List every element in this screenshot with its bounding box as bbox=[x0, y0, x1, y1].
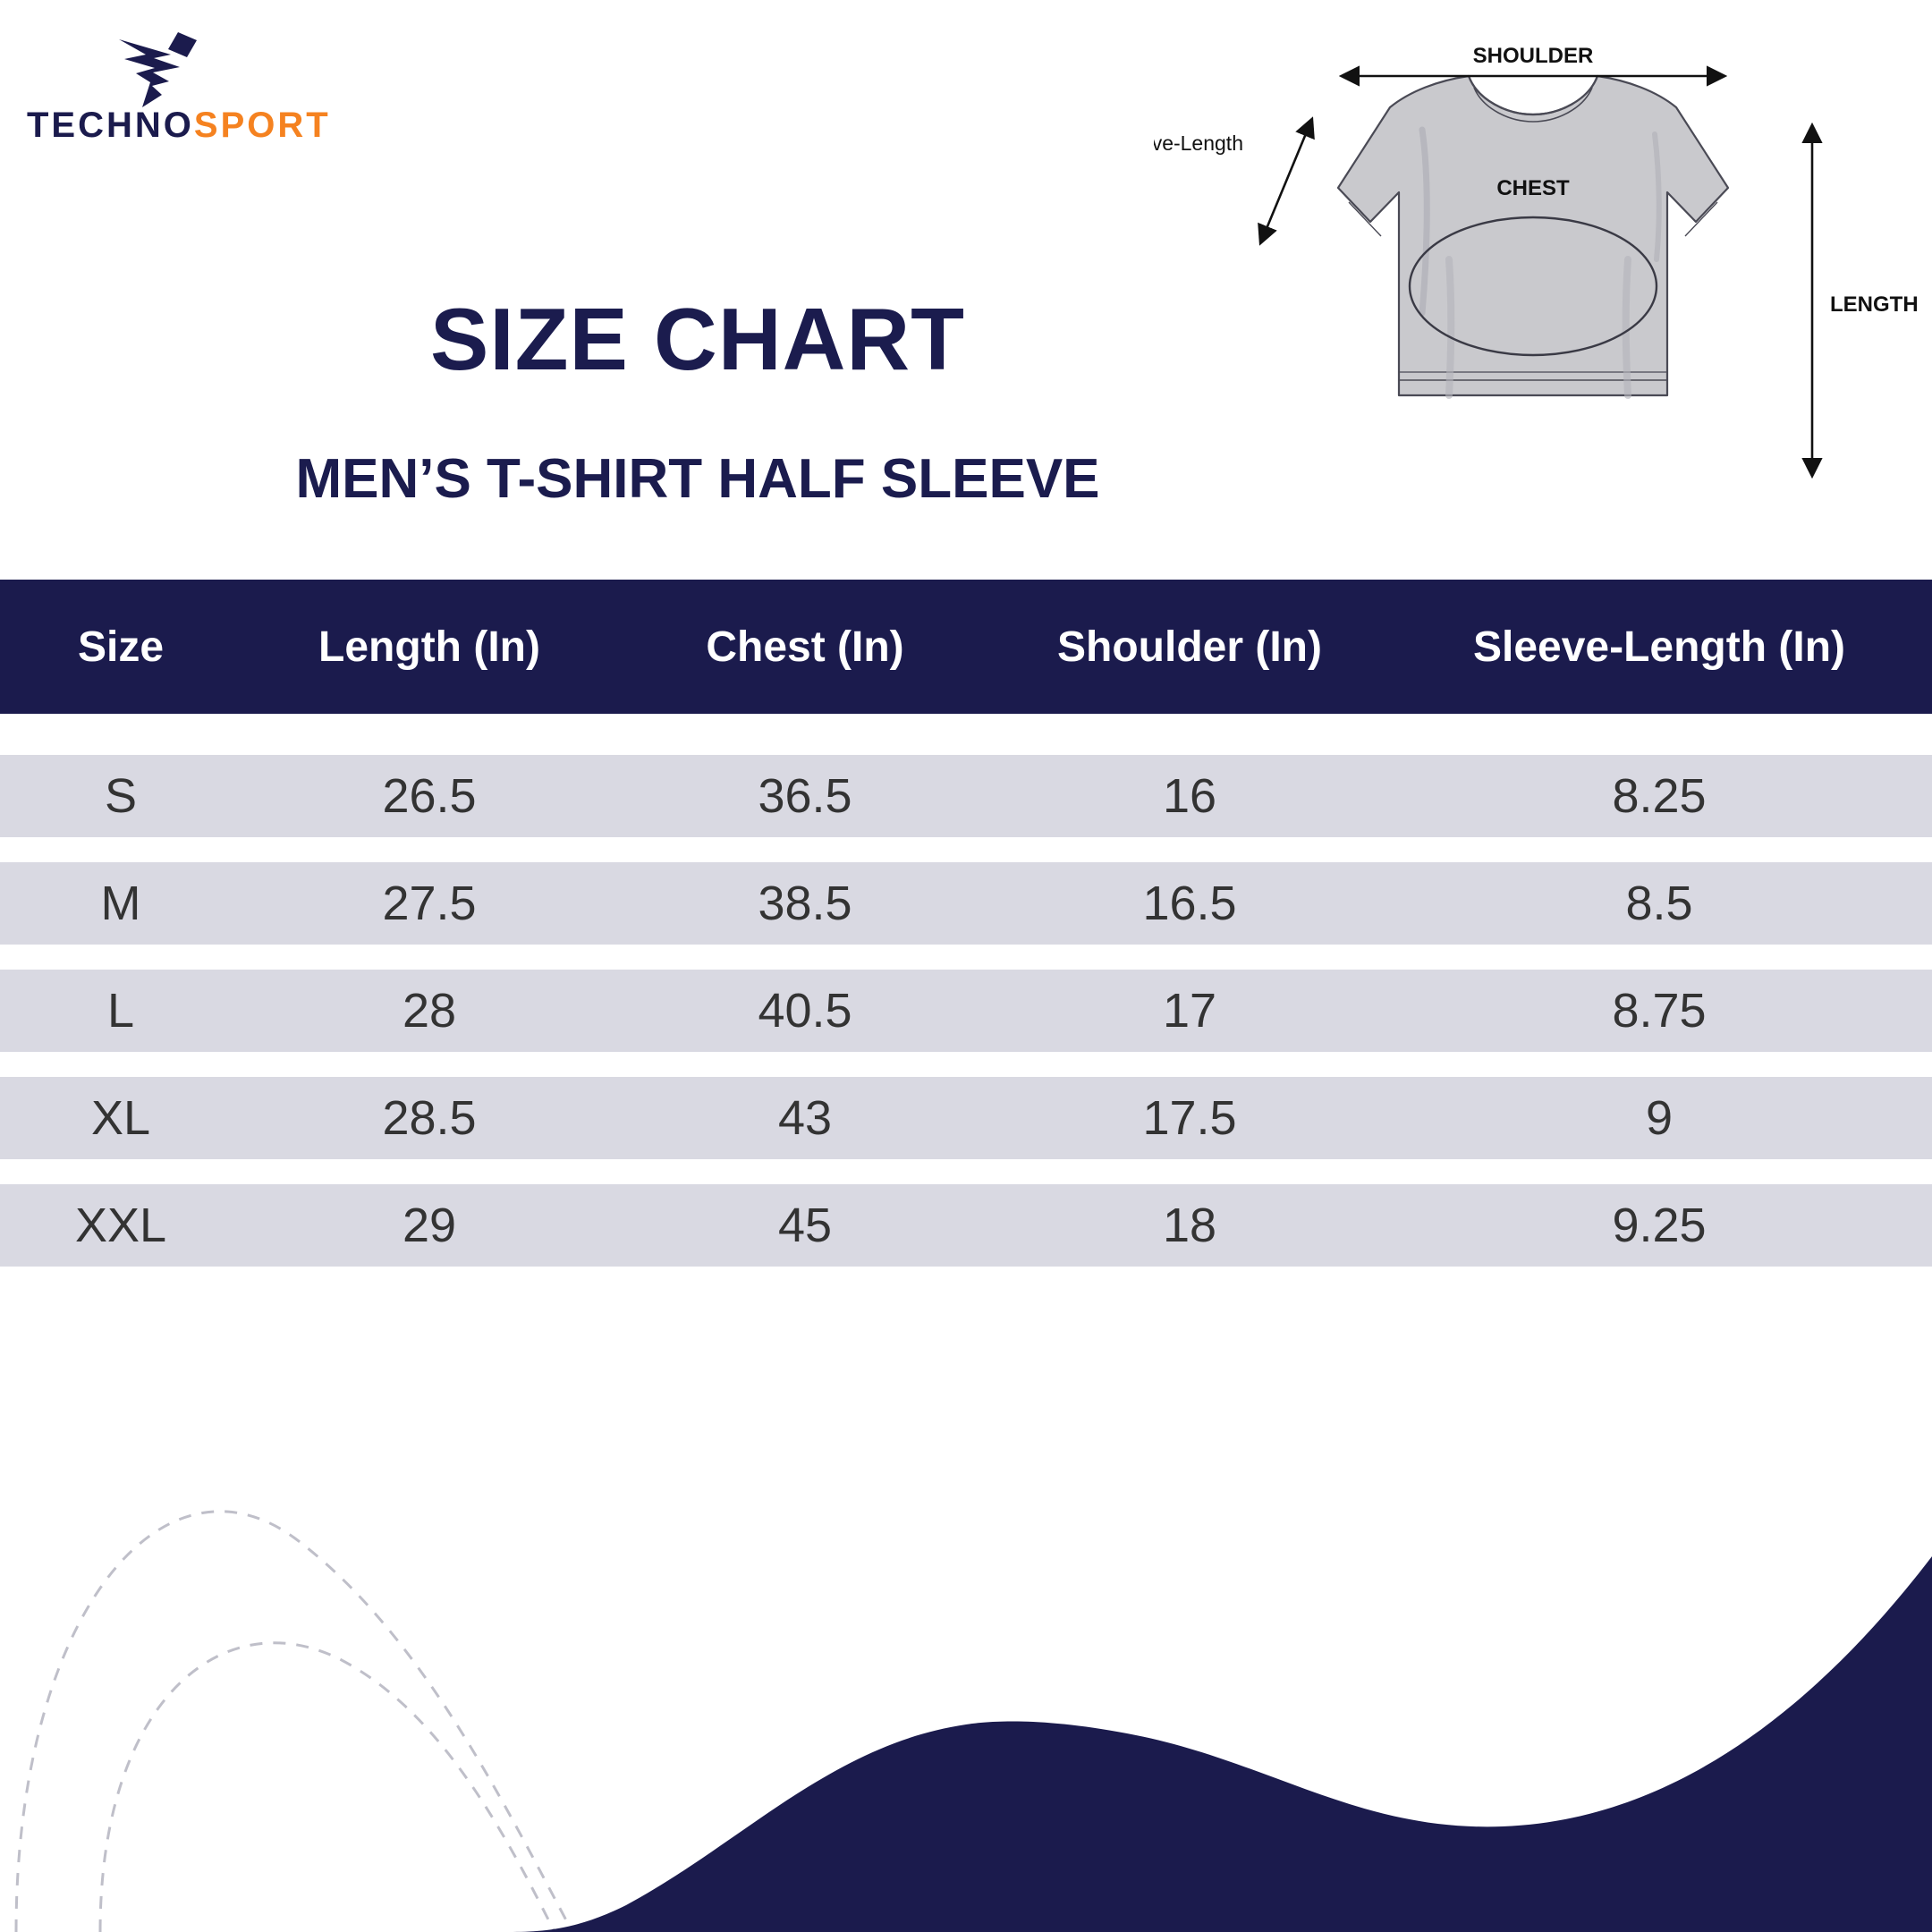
cell-sleeve-length: 9.25 bbox=[1386, 1198, 1932, 1253]
cell-shoulder: 16.5 bbox=[993, 876, 1386, 931]
cell-length: 28.5 bbox=[241, 1090, 617, 1146]
cell-sleeve-length: 9 bbox=[1386, 1090, 1932, 1146]
cell-chest: 43 bbox=[617, 1090, 993, 1146]
cell-shoulder: 16 bbox=[993, 768, 1386, 824]
cell-size: M bbox=[0, 876, 241, 931]
logo-text-techno: TECHNO bbox=[27, 106, 194, 145]
column-header-chest: Chest (In) bbox=[617, 623, 993, 672]
diagram-label-shoulder: SHOULDER bbox=[1473, 45, 1594, 68]
running-figure-icon bbox=[103, 25, 201, 107]
cell-chest: 40.5 bbox=[617, 983, 993, 1038]
brand-wordmark: TECHNOSPORT bbox=[27, 107, 385, 143]
cell-sleeve-length: 8.25 bbox=[1386, 768, 1932, 824]
tshirt-measurement-diagram: SHOULDER LENGTH Sleeve-Length CHEST bbox=[1154, 45, 1923, 563]
logo-text-sport: SPORT bbox=[194, 106, 331, 145]
column-header-size: Size bbox=[0, 623, 241, 672]
table-row: M 27.5 38.5 16.5 8.5 bbox=[0, 862, 1932, 945]
cell-shoulder: 17.5 bbox=[993, 1090, 1386, 1146]
cell-shoulder: 17 bbox=[993, 983, 1386, 1038]
cell-chest: 36.5 bbox=[617, 768, 993, 824]
cell-chest: 45 bbox=[617, 1198, 993, 1253]
navy-wave-shape bbox=[501, 1556, 1932, 1932]
table-row: L 28 40.5 17 8.75 bbox=[0, 970, 1932, 1052]
column-header-sleeve-length: Sleeve-Length (In) bbox=[1386, 623, 1932, 672]
cell-sleeve-length: 8.75 bbox=[1386, 983, 1932, 1038]
cell-size: XL bbox=[0, 1090, 241, 1146]
table-row: XXL 29 45 18 9.25 bbox=[0, 1184, 1932, 1267]
cell-length: 29 bbox=[241, 1198, 617, 1253]
table-body: S 26.5 36.5 16 8.25 M 27.5 38.5 16.5 8.5… bbox=[0, 714, 1932, 1267]
size-table: Size Length (In) Chest (In) Shoulder (In… bbox=[0, 580, 1932, 1292]
cell-sleeve-length: 8.5 bbox=[1386, 876, 1932, 931]
cell-size: XXL bbox=[0, 1198, 241, 1253]
cell-length: 27.5 bbox=[241, 876, 617, 931]
cell-size: S bbox=[0, 768, 241, 824]
diagram-label-length: LENGTH bbox=[1830, 292, 1919, 317]
cell-shoulder: 18 bbox=[993, 1198, 1386, 1253]
cell-size: L bbox=[0, 983, 241, 1038]
cell-length: 28 bbox=[241, 983, 617, 1038]
table-row: S 26.5 36.5 16 8.25 bbox=[0, 755, 1932, 837]
table-header-row: Size Length (In) Chest (In) Shoulder (In… bbox=[0, 580, 1932, 714]
diagram-label-chest: CHEST bbox=[1496, 176, 1570, 200]
diagram-label-sleeve-length: Sleeve-Length bbox=[1154, 131, 1243, 155]
decorative-dashed-arcs bbox=[16, 1512, 572, 1932]
table-row: XL 28.5 43 17.5 9 bbox=[0, 1077, 1932, 1159]
column-header-length: Length (In) bbox=[241, 623, 617, 672]
column-header-shoulder: Shoulder (In) bbox=[993, 623, 1386, 672]
size-chart-page: TECHNOSPORT SIZE CHART MEN’S T-SHIRT HAL… bbox=[0, 0, 1932, 1932]
bottom-decoration bbox=[0, 1467, 1932, 1932]
cell-length: 26.5 bbox=[241, 768, 617, 824]
brand-logo: TECHNOSPORT bbox=[27, 25, 385, 155]
cell-chest: 38.5 bbox=[617, 876, 993, 931]
